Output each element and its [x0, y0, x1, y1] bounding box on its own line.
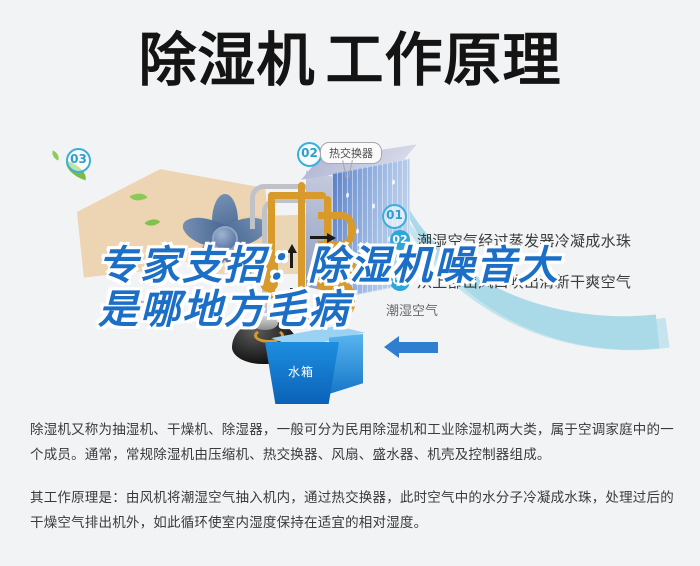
coil-pipe — [268, 192, 326, 199]
page-title-part2: 工作原理 — [326, 26, 562, 94]
diagram-badge-01: 01 — [382, 204, 407, 229]
diagram-badge-02: 02 — [297, 142, 322, 167]
overlay-headline: 专家支招：除湿机噪音大 是哪地方毛病 — [98, 244, 598, 332]
condensation-drop — [372, 203, 375, 209]
overlay-headline-line1: 专家支招：除湿机噪音大 — [98, 243, 560, 289]
overlay-headline-line2: 是哪地方毛病 — [98, 288, 598, 332]
article-body: 除湿机又称为抽湿机、干燥机、除湿器，一般可分为民用除湿机和工业除湿机两大类，属于… — [30, 418, 674, 536]
body-paragraph-1: 除湿机又称为抽湿机、干燥机、除湿器，一般可分为民用除湿机和工业除湿机两大类，属于… — [30, 418, 674, 468]
water-tank-label: 水箱 — [288, 363, 314, 380]
flow-arrow-right-icon — [327, 233, 336, 243]
page-title-part1: 除湿机 — [138, 26, 315, 94]
flow-arrow-stem — [310, 236, 328, 239]
air-inlet-arrow-icon — [398, 342, 438, 353]
body-paragraph-2: 其工作原理是：由风机将潮湿空气抽入机内，通过热交换器，此时空气中的水分子冷凝成水… — [30, 486, 674, 536]
page-title: 除湿机工作原理 — [0, 26, 700, 94]
title-band: 除湿机工作原理 — [0, 0, 700, 120]
condensation-drop — [356, 228, 359, 234]
diagram-badge-03: 03 — [66, 148, 91, 173]
leaf-icon — [50, 150, 61, 160]
page-root: 除湿机工作原理 — [0, 0, 700, 566]
condensation-drop — [392, 179, 395, 185]
